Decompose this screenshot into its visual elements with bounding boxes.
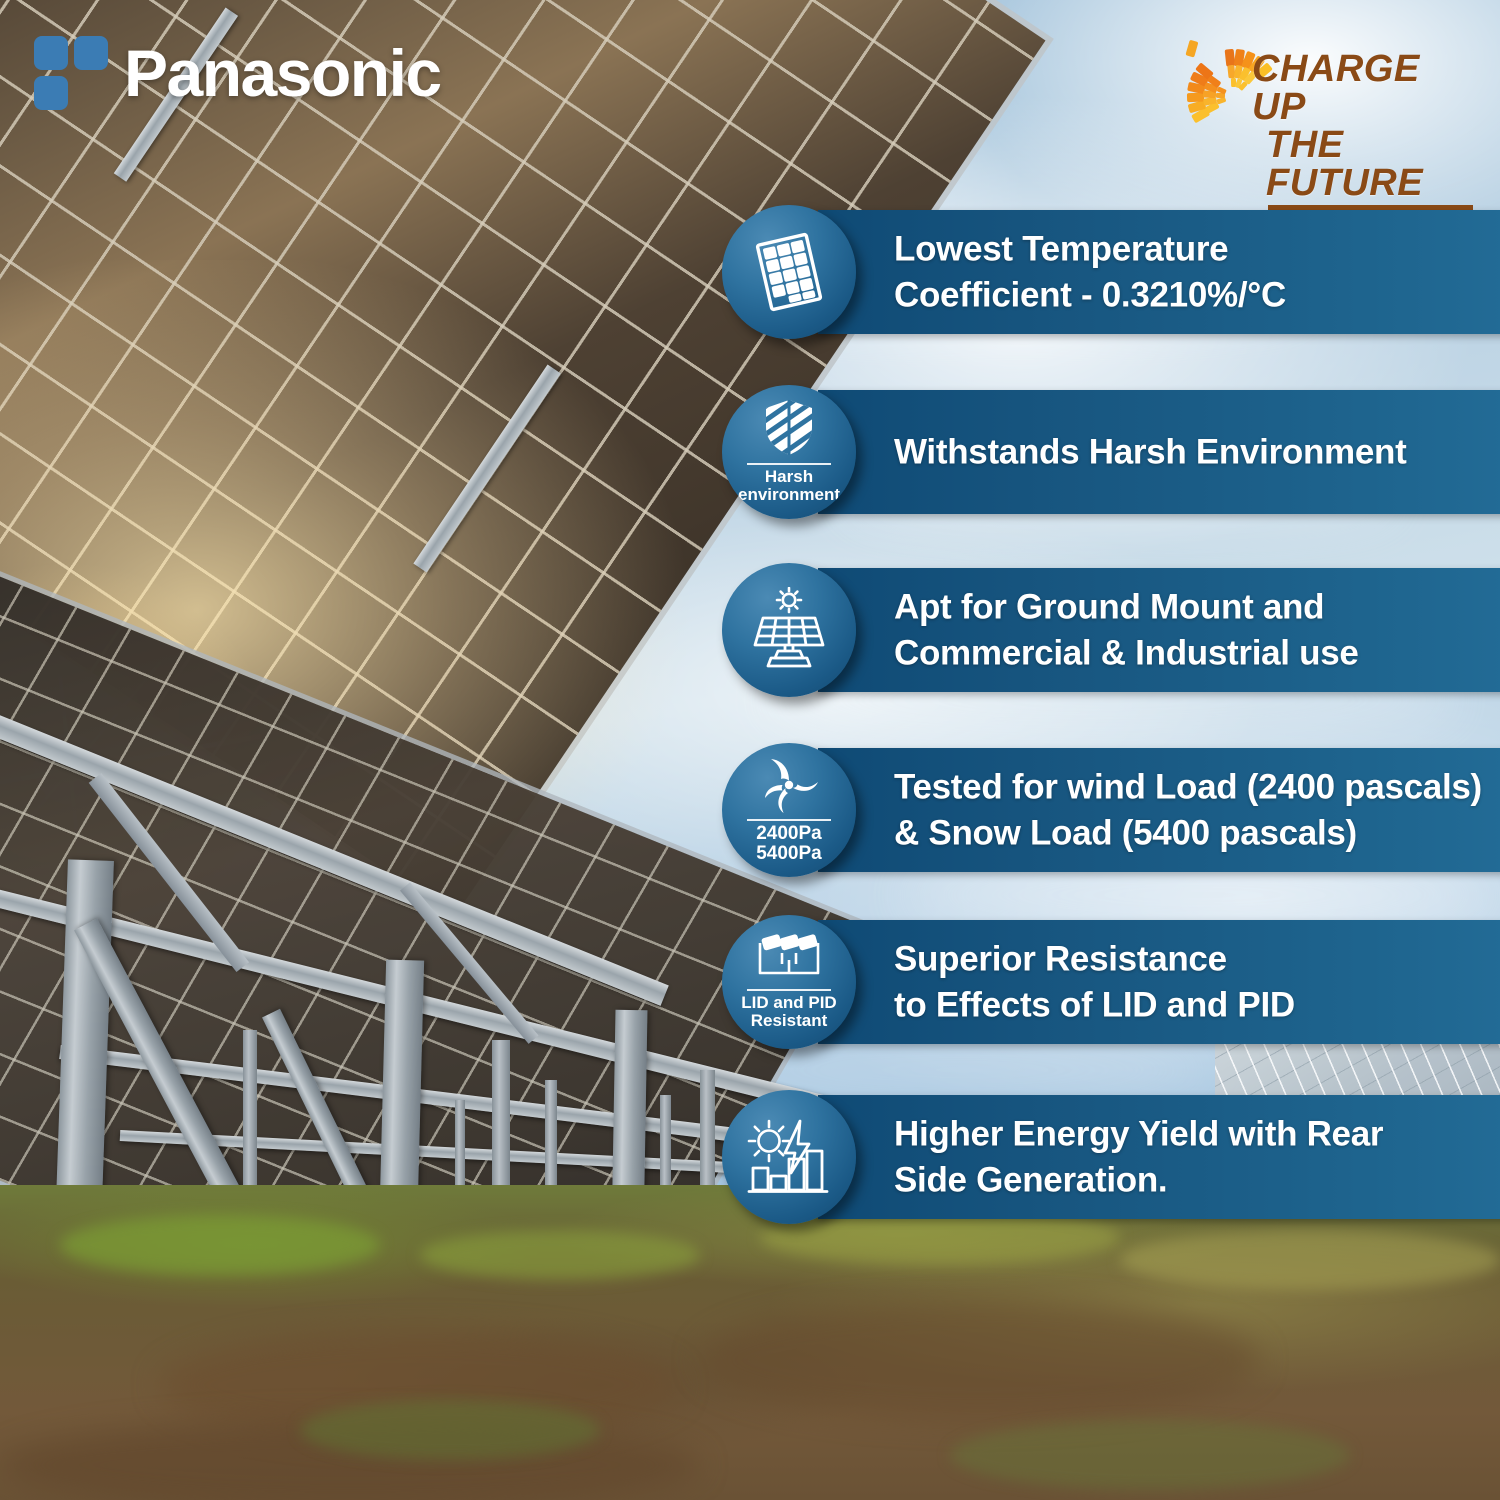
feature-row: Harsh environment Withstands Harsh Envir…	[722, 390, 1500, 514]
feature-text: Higher Energy Yield with Rear Side Gener…	[894, 1112, 1383, 1203]
circuit-cells-icon	[748, 933, 830, 985]
feature-row: 2400Pa 5400Pa Tested for wind Load (2400…	[722, 748, 1500, 872]
solar-panel-tilted-icon	[746, 229, 832, 315]
feature-row: Higher Energy Yield with Rear Side Gener…	[722, 1095, 1500, 1219]
badge-divider	[747, 819, 831, 821]
badge-sublabel: 2400Pa 5400Pa	[756, 824, 822, 864]
feature-text: Withstands Harsh Environment	[894, 429, 1406, 475]
badge-ground-mount	[722, 563, 856, 697]
feature-row: LID and PID Resistant Superior Resistanc…	[722, 920, 1500, 1044]
feature-text: Lowest Temperature Coefficient - 0.3210%…	[894, 227, 1286, 318]
badge-sublabel: LID and PID Resistant	[741, 994, 836, 1030]
sun-bolt-chart-icon	[743, 1115, 835, 1199]
badge-wind-snow-load: 2400Pa 5400Pa	[722, 743, 856, 877]
feature-text: Apt for Ground Mount and Commercial & In…	[894, 585, 1359, 676]
badge-harsh-environment: Harsh environment	[722, 385, 856, 519]
infographic-canvas: Panasonic	[0, 0, 1500, 1500]
badge-divider	[747, 463, 831, 465]
shield-icon	[762, 397, 816, 459]
feature-list: Lowest Temperature Coefficient - 0.3210%…	[0, 0, 1500, 1500]
badge-rear-side-generation	[722, 1090, 856, 1224]
badge-sublabel: Harsh environment	[738, 468, 840, 504]
badge-lid-pid-resistant: LID and PID Resistant	[722, 915, 856, 1049]
feature-row: Lowest Temperature Coefficient - 0.3210%…	[722, 210, 1500, 334]
wind-fan-icon	[758, 755, 820, 815]
feature-text: Tested for wind Load (2400 pascals) & Sn…	[894, 765, 1482, 856]
ground-mount-panel-icon	[744, 587, 834, 673]
feature-text: Superior Resistance to Effects of LID an…	[894, 937, 1295, 1028]
badge-divider	[747, 989, 831, 991]
feature-row: Apt for Ground Mount and Commercial & In…	[722, 568, 1500, 692]
badge-solar-panel-tilted	[722, 205, 856, 339]
